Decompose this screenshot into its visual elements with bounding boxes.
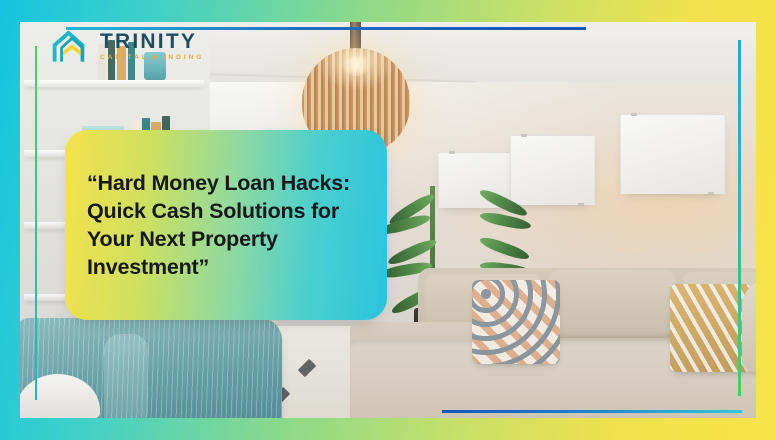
logo-title: TRINITY [100, 31, 205, 52]
accent-rule-right [738, 40, 741, 396]
accent-rule-bottom [442, 410, 742, 413]
accent-rule-left [35, 46, 37, 400]
sofa-cushion-2 [548, 270, 676, 338]
house-logo-icon [52, 28, 92, 64]
headline-text: “Hard Money Loan Hacks: Quick Cash Solut… [65, 169, 387, 282]
brand-logo: TRINITY CAPITAL FUNDING [52, 28, 205, 64]
patterned-pillow [472, 280, 560, 364]
wall-panel-middle [510, 135, 595, 205]
headline-card: “Hard Money Loan Hacks: Quick Cash Solut… [65, 130, 387, 320]
logo-wordmark: TRINITY CAPITAL FUNDING [100, 31, 205, 61]
logo-subtitle: CAPITAL FUNDING [100, 55, 205, 61]
plain-pillow [742, 280, 756, 372]
wall-panel-right [620, 114, 725, 194]
marketing-banner: TRINITY CAPITAL FUNDING “Hard Money Loan… [0, 0, 776, 440]
teal-sofa-arm [104, 334, 148, 418]
